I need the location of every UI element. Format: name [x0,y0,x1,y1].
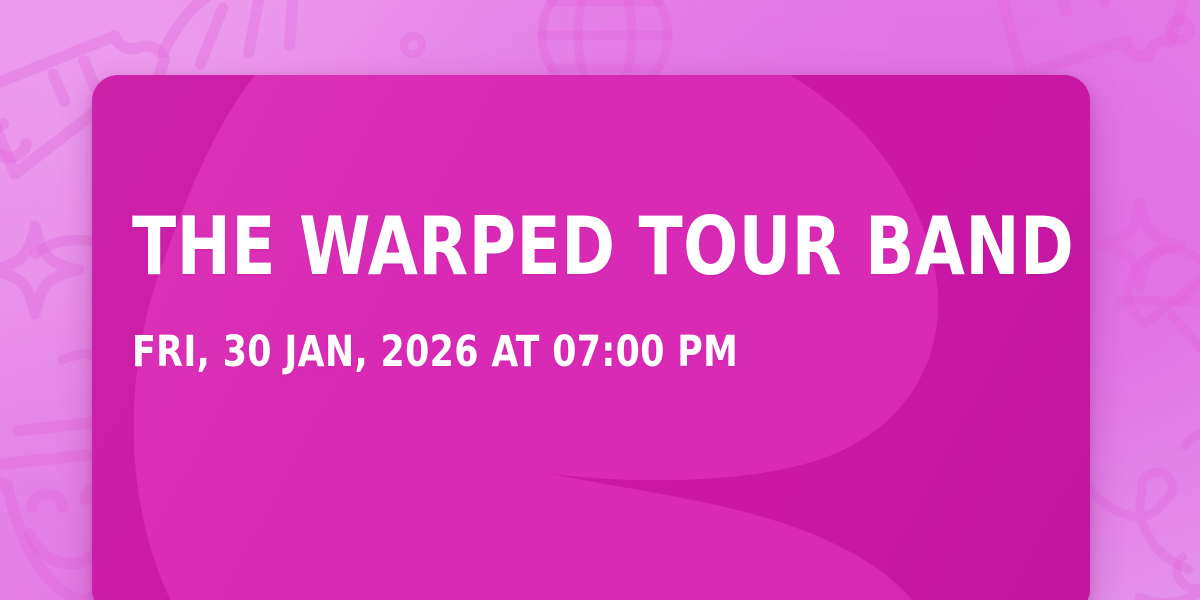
balloon-icon [1090,455,1200,600]
event-card[interactable]: THE WARPED TOUR BAND FRI, 30 JAN, 2026 A… [92,75,1090,600]
event-datetime: FRI, 30 JAN, 2026 AT 07:00 PM [132,331,940,374]
dot-icon [1160,10,1200,50]
event-text-block: THE WARPED TOUR BAND FRI, 30 JAN, 2026 A… [132,207,1030,374]
sparkle-icon [0,215,90,325]
confetti-icon [150,0,340,75]
dot-icon [400,32,426,58]
sparkle-icon [1090,195,1190,295]
dash-icon [30,232,100,262]
microphone-icon [1108,225,1200,405]
event-title: THE WARPED TOUR BAND [132,207,940,287]
event-banner: THE WARPED TOUR BAND FRI, 30 JAN, 2026 A… [0,0,1200,600]
